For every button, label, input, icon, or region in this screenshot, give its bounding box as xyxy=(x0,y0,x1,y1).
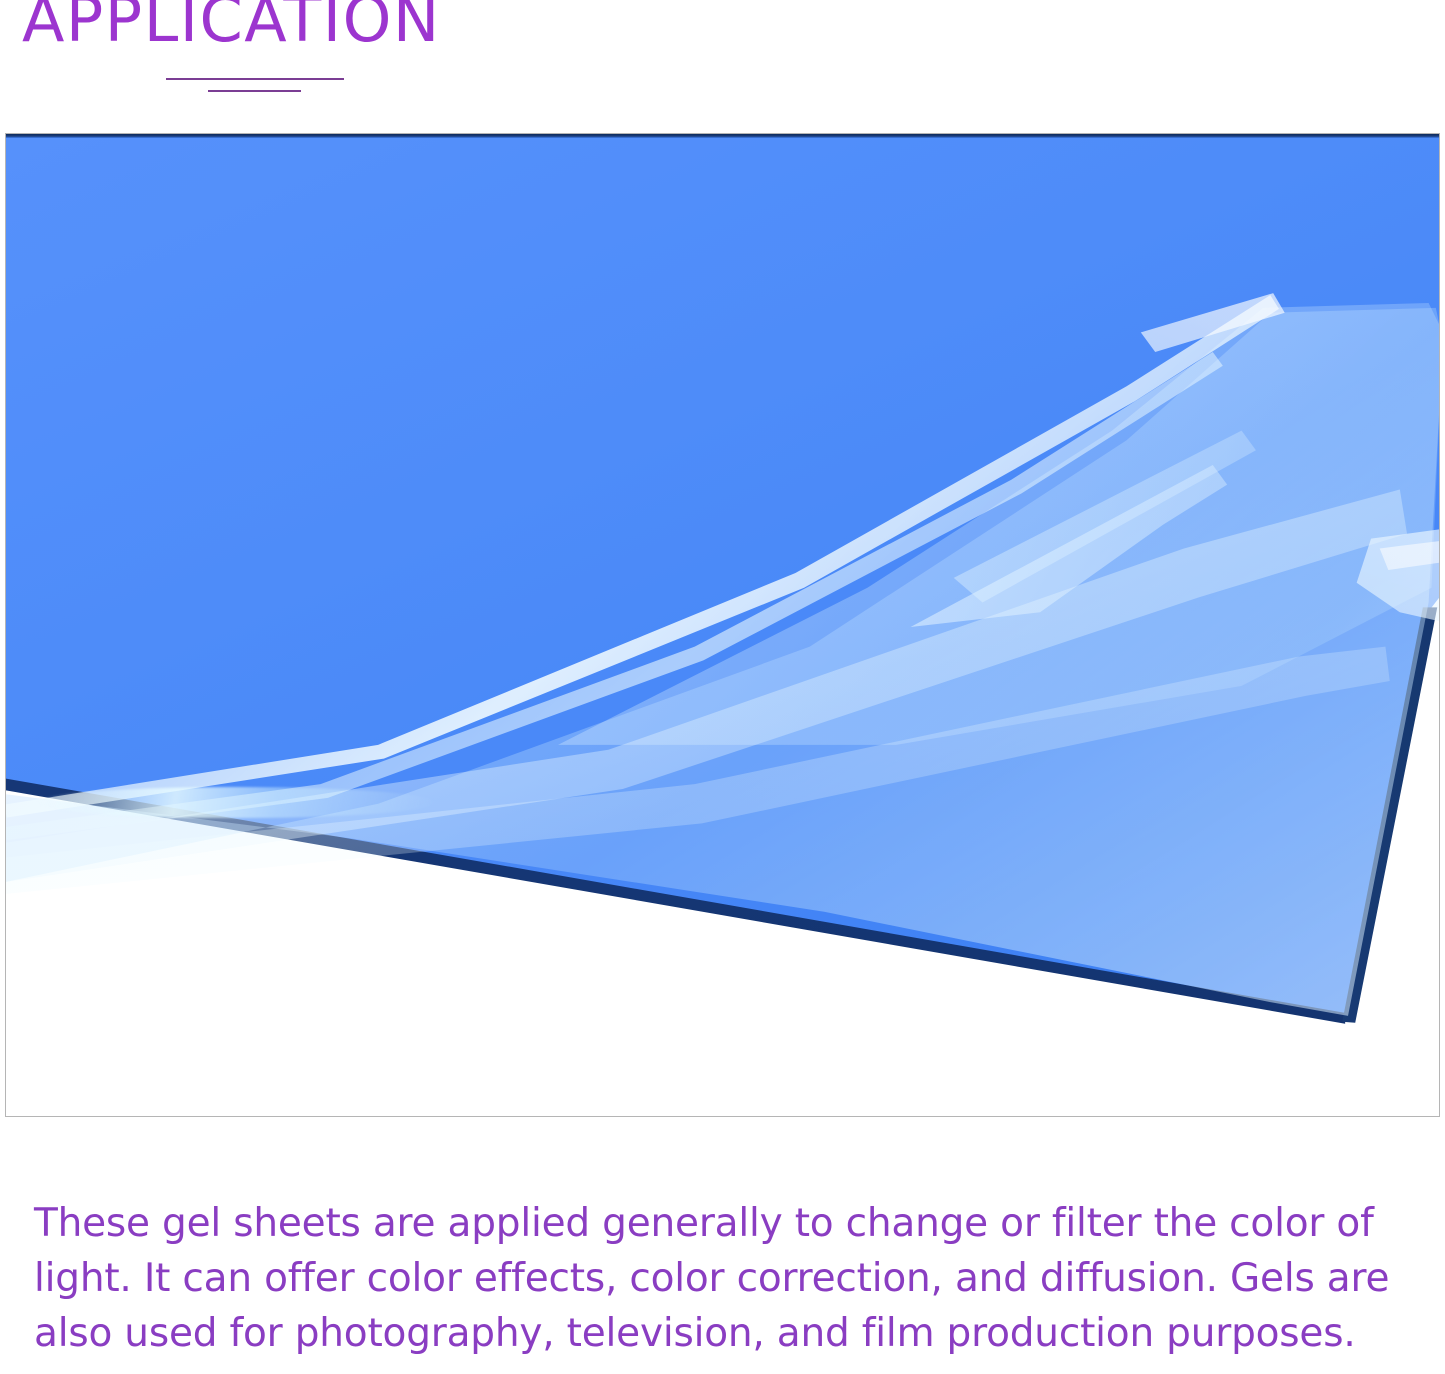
caption-line-2: light. It can offer color effects, color… xyxy=(34,1251,1429,1306)
caption-line-1: These gel sheets are applied generally t… xyxy=(34,1196,1429,1251)
caption-block: These gel sheets are applied generally t… xyxy=(34,1196,1429,1361)
page-title: APPLICATION xyxy=(22,0,441,54)
gel-sheet-top-edge xyxy=(6,134,1439,138)
title-underline-short xyxy=(208,90,301,92)
heading-block: APPLICATION xyxy=(0,0,1445,118)
product-photo-frame xyxy=(5,133,1440,1117)
product-photo xyxy=(6,134,1439,1116)
title-underline-long xyxy=(166,78,344,80)
caption-line-3: also used for photography, television, a… xyxy=(34,1306,1429,1361)
